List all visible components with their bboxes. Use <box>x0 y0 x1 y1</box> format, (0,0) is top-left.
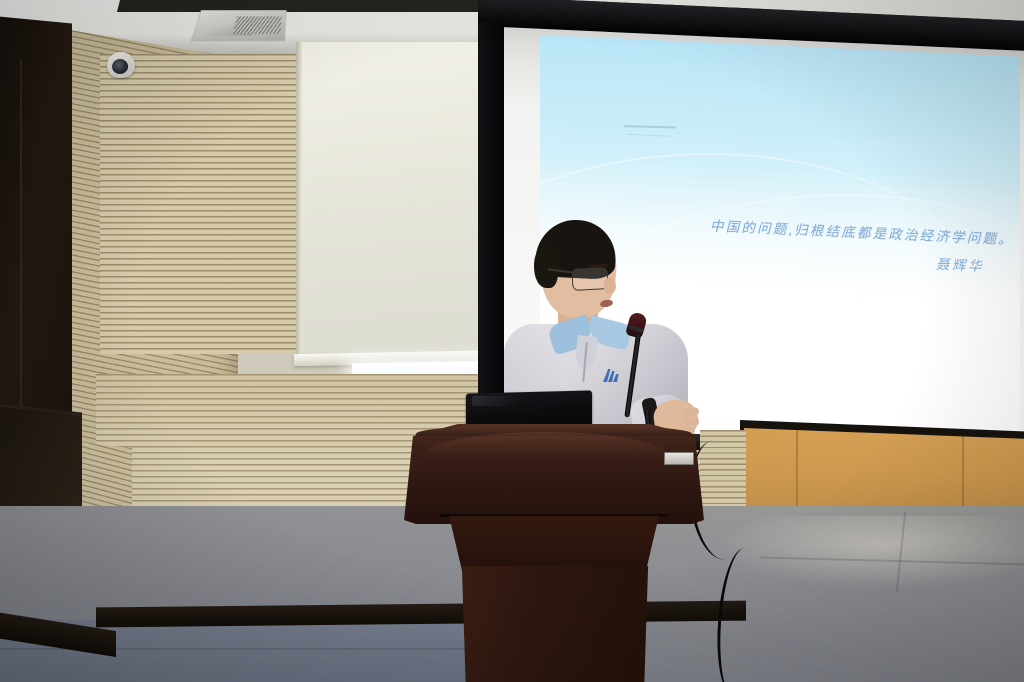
eyeglasses-icon <box>571 267 608 291</box>
slide-placeholder-line <box>626 134 670 137</box>
slide-placeholder-line <box>624 125 676 128</box>
finger <box>684 418 699 427</box>
three-stripe-logo-icon <box>602 368 620 383</box>
floor-light-reflection <box>720 516 1024 588</box>
camera-lens-icon <box>112 59 129 75</box>
mouth <box>599 299 613 308</box>
presentation-room-photo: 中国的问题,归根结底都是政治经济学问题。 聂辉华 <box>0 0 1024 682</box>
laptop-screen-glare <box>472 396 516 406</box>
panel-seam <box>796 430 798 512</box>
podium-neck <box>440 516 668 574</box>
slide-author-text: 聂辉华 <box>936 253 984 275</box>
vent-louvers-icon <box>233 16 281 34</box>
podium-name-plate <box>664 452 694 465</box>
nose <box>604 278 616 294</box>
white-panel-edge <box>296 42 302 362</box>
podium-column <box>458 566 652 682</box>
hair-side <box>534 246 558 288</box>
ceiling-dark-recess <box>117 0 540 12</box>
